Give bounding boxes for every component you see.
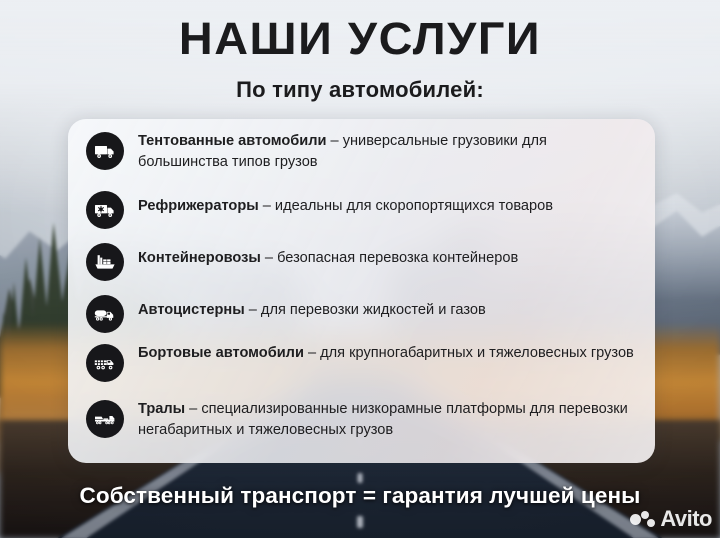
list-item-rest: – идеальны для скоропортящихся товаров bbox=[259, 198, 553, 214]
list-item-lead: Контейнеровозы bbox=[138, 250, 261, 266]
flatbed-truck-icon bbox=[86, 344, 124, 382]
list-item-rest: – специализированные низкорамные платфор… bbox=[138, 401, 628, 438]
list-item-text: Тентованные автомобили – универсальные г… bbox=[138, 129, 639, 173]
services-list: Тентованные автомобили – универсальные г… bbox=[86, 129, 639, 453]
list-item-text: Тралы – специализированные низкорамные п… bbox=[138, 397, 639, 441]
page-subtitle: По типу автомобилей: bbox=[0, 77, 720, 103]
avito-logo-icon bbox=[630, 510, 656, 528]
avito-watermark: Avito bbox=[630, 508, 712, 530]
page-title: НАШИ УСЛУГИ bbox=[0, 14, 720, 64]
list-item-rest: – для крупногабаритных и тяжеловесных гр… bbox=[304, 345, 634, 361]
list-item: Автоцистерны – для перевозки жидкостей и… bbox=[86, 289, 639, 339]
list-item: Бортовые автомобили – для крупногабаритн… bbox=[86, 341, 639, 395]
list-item: Тентованные автомобили – универсальные г… bbox=[86, 129, 639, 183]
list-item: Тралы – специализированные низкорамные п… bbox=[86, 397, 639, 453]
service-poster: НАШИ УСЛУГИ По типу автомобилей: bbox=[0, 0, 720, 538]
list-item: Контейнеровозы – безопасная перевозка ко… bbox=[86, 237, 639, 287]
avito-wordmark: Avito bbox=[660, 508, 712, 530]
list-item-rest: – для перевозки жидкостей и газов bbox=[245, 302, 486, 318]
list-item-lead: Автоцистерны bbox=[138, 302, 245, 318]
list-item-rest: – безопасная перевозка контейнеров bbox=[261, 250, 518, 266]
list-item-text: Рефрижераторы – идеальны для скоропортящ… bbox=[138, 185, 553, 217]
list-item-text: Контейнеровозы – безопасная перевозка ко… bbox=[138, 237, 518, 269]
list-item: Рефрижераторы – идеальны для скоропортящ… bbox=[86, 185, 639, 235]
container-ship-icon bbox=[86, 243, 124, 281]
header: НАШИ УСЛУГИ По типу автомобилей: bbox=[0, 14, 720, 103]
list-item-text: Бортовые автомобили – для крупногабаритн… bbox=[138, 341, 634, 364]
tanker-truck-icon bbox=[86, 295, 124, 333]
footer-tagline: Собственный транспорт = гарантия лучшей … bbox=[0, 482, 720, 510]
box-truck-icon bbox=[86, 132, 124, 170]
lowboy-trailer-icon bbox=[86, 400, 124, 438]
list-item-lead: Тралы bbox=[138, 401, 185, 417]
list-item-lead: Рефрижераторы bbox=[138, 198, 259, 214]
refrigerator-truck-icon bbox=[86, 191, 124, 229]
list-item-lead: Тентованные автомобили bbox=[138, 133, 326, 149]
services-card: Тентованные автомобили – универсальные г… bbox=[68, 119, 655, 463]
list-item-lead: Бортовые автомобили bbox=[138, 345, 304, 361]
list-item-text: Автоцистерны – для перевозки жидкостей и… bbox=[138, 289, 486, 321]
